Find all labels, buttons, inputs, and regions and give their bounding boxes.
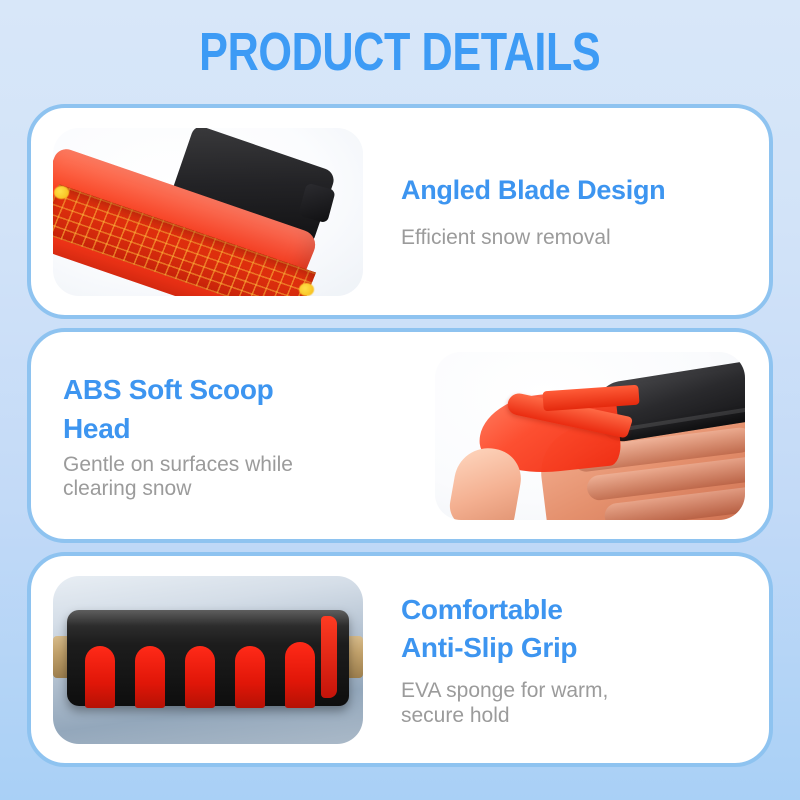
red-finger-groove — [285, 642, 315, 708]
black-eva-foam-sleeve — [67, 610, 349, 706]
product-image-angled-blade — [53, 128, 363, 296]
feature-text-angled-blade: Angled Blade Design Efficient snow remov… — [373, 173, 769, 251]
feature-card-soft-scoop[interactable]: ABS Soft Scoop Head Gentle on surfaces w… — [27, 328, 773, 543]
feature-subtitle: EVA sponge for warm, secure hold — [401, 679, 747, 727]
product-image-anti-slip-grip — [53, 576, 363, 744]
feature-card-anti-slip-grip[interactable]: Comfortable Anti-Slip Grip EVA sponge fo… — [27, 552, 773, 767]
grip-red-end-cap — [321, 616, 337, 698]
page-title: PRODUCT DETAILS — [199, 25, 600, 79]
feature-card-angled-blade[interactable]: Angled Blade Design Efficient snow remov… — [27, 104, 773, 319]
red-squeegee-blade-photo — [53, 128, 363, 296]
feature-subtitle: Efficient snow removal — [401, 226, 747, 251]
product-details-page: PRODUCT DETAILS Angled Blade Design Effi… — [0, 0, 800, 800]
feature-text-anti-slip-grip: Comfortable Anti-Slip Grip EVA sponge fo… — [373, 591, 769, 727]
feature-subtitle: Gentle on surfaces while clearing snow — [63, 453, 419, 501]
feature-text-soft-scoop: ABS Soft Scoop Head Gentle on surfaces w… — [31, 370, 429, 502]
red-finger-groove — [235, 646, 265, 708]
feature-heading: Comfortable Anti-Slip Grip — [401, 591, 747, 667]
blade-yellow-corner-dot — [299, 283, 314, 296]
red-finger-groove — [135, 646, 165, 708]
product-image-soft-scoop — [435, 352, 745, 520]
title-section: PRODUCT DETAILS — [0, 0, 800, 104]
feature-card-list: Angled Blade Design Efficient snow remov… — [0, 104, 800, 767]
black-eva-foam-grip-photo — [53, 576, 363, 744]
red-finger-groove — [85, 646, 115, 708]
red-finger-groove — [185, 646, 215, 708]
feature-heading: ABS Soft Scoop Head — [63, 370, 419, 450]
feature-heading: Angled Blade Design — [401, 173, 747, 208]
blade-yellow-corner-dot — [54, 186, 69, 199]
flexible-red-scoop-in-hand-photo — [435, 352, 745, 520]
